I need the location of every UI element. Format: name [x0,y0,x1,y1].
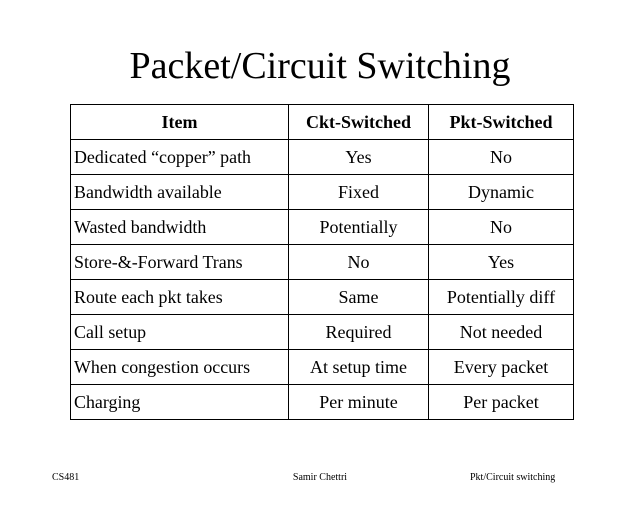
cell-ckt-switched: Same [289,280,429,315]
cell-item: Store-&-Forward Trans [71,245,289,280]
slide-canvas: Packet/Circuit Switching Item Ckt-Switch… [0,0,640,512]
footer-topic: Pkt/Circuit switching [470,472,555,484]
table-row: Wasted bandwidthPotentiallyNo [71,210,574,245]
cell-item: Route each pkt takes [71,280,289,315]
cell-ckt-switched: Per minute [289,385,429,420]
cell-pkt-switched: Dynamic [429,175,574,210]
table-row: Dedicated “copper” pathYesNo [71,140,574,175]
cell-item: Dedicated “copper” path [71,140,289,175]
column-header-ckt-switched: Ckt-Switched [289,105,429,140]
comparison-table: Item Ckt-Switched Pkt-Switched Dedicated… [70,104,574,420]
table-row: Bandwidth availableFixedDynamic [71,175,574,210]
table-row: When congestion occursAt setup timeEvery… [71,350,574,385]
cell-item: Charging [71,385,289,420]
table-row: ChargingPer minutePer packet [71,385,574,420]
column-header-item: Item [71,105,289,140]
cell-pkt-switched: Yes [429,245,574,280]
cell-ckt-switched: Yes [289,140,429,175]
cell-ckt-switched: Potentially [289,210,429,245]
table-header-row: Item Ckt-Switched Pkt-Switched [71,105,574,140]
cell-item: Bandwidth available [71,175,289,210]
cell-ckt-switched: Fixed [289,175,429,210]
cell-pkt-switched: Per packet [429,385,574,420]
page-title: Packet/Circuit Switching [0,44,640,88]
table-row: Store-&-Forward TransNoYes [71,245,574,280]
cell-item-label: Call setup [74,322,146,342]
cell-item: Call setup [71,315,289,350]
cell-pkt-switched: Potentially diff [429,280,574,315]
cell-ckt-switched: No [289,245,429,280]
cell-item: When congestion occurs [71,350,289,385]
cell-pkt-switched: No [429,140,574,175]
cell-pkt-switched: Not needed [429,315,574,350]
cell-item-label: Charging [74,392,140,412]
table-row: Call setupRequiredNot needed [71,315,574,350]
cell-pkt-switched: No [429,210,574,245]
column-header-pkt-switched: Pkt-Switched [429,105,574,140]
cell-pkt-switched: Every packet [429,350,574,385]
cell-item-label: Dedicated “copper” path [74,147,251,167]
cell-ckt-switched: Required [289,315,429,350]
cell-item: Wasted bandwidth [71,210,289,245]
table-row: Route each pkt takesSamePotentially diff [71,280,574,315]
cell-item-label: Wasted bandwidth [74,217,206,237]
cell-ckt-switched: At setup time [289,350,429,385]
table-header: Item Ckt-Switched Pkt-Switched [71,105,574,140]
table-body: Dedicated “copper” pathYesNoBandwidth av… [71,140,574,420]
cell-item-label: Store-&-Forward Trans [74,252,243,272]
cell-item-label: Bandwidth available [74,182,222,202]
cell-item-label: Route each pkt takes [74,287,223,307]
cell-item-label: When congestion occurs [74,357,250,377]
